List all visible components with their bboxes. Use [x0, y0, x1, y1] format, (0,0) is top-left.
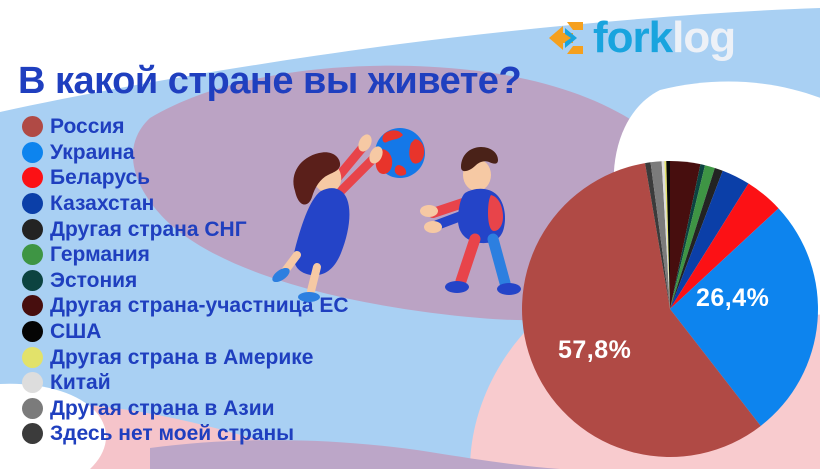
illustration-svg	[255, 105, 545, 315]
page-title: В какой стране вы живете?	[18, 62, 698, 102]
forklog-logo[interactable]: forklog	[543, 12, 811, 64]
legend-color-swatch	[22, 295, 43, 316]
legend-item-label: Другая страна в Америке	[50, 347, 313, 368]
legend-item: Китай	[22, 370, 452, 396]
legend-item: Другая страна в Азии	[22, 396, 452, 422]
legend-item: Здесь нет моей страны	[22, 421, 452, 447]
pie-chart-svg	[519, 158, 820, 460]
pie-slice-label-ukraine: 26,4%	[696, 284, 769, 313]
legend-color-swatch	[22, 398, 43, 419]
legend-item-label: Здесь нет моей страны	[50, 423, 294, 444]
legend-item-label: Россия	[50, 116, 125, 137]
legend-item-label: Другая страна СНГ	[50, 219, 247, 240]
legend-color-swatch	[22, 347, 43, 368]
legend-color-swatch	[22, 142, 43, 163]
legend-item-label: Эстония	[50, 270, 137, 291]
fork-arrow-icon	[543, 18, 587, 58]
legend-color-swatch	[22, 219, 43, 240]
pie-chart: 57,8% 26,4%	[519, 158, 820, 460]
logo-text-fork: fork	[593, 16, 672, 60]
legend-color-swatch	[22, 193, 43, 214]
forklog-wordmark: forklog	[593, 16, 735, 60]
legend-color-swatch	[22, 167, 43, 188]
legend-item-label: Китай	[50, 372, 111, 393]
legend-item: США	[22, 319, 452, 345]
pie-slice-label-russia: 57,8%	[558, 336, 631, 365]
legend-item-label: Другая страна в Азии	[50, 398, 275, 419]
legend-color-swatch	[22, 372, 43, 393]
woman-throwing-icon	[270, 132, 385, 302]
infographic-canvas: forklog В какой стране вы живете? Россия…	[0, 0, 820, 469]
legend-color-swatch	[22, 423, 43, 444]
legend-color-swatch	[22, 270, 43, 291]
legend-item-label: Беларусь	[50, 167, 150, 188]
legend-color-swatch	[22, 116, 43, 137]
legend-item-label: Германия	[50, 244, 150, 265]
legend-color-swatch	[22, 321, 43, 342]
legend-item: Другая страна в Америке	[22, 344, 452, 370]
illustration-two-people-globe	[255, 105, 545, 315]
logo-text-log: log	[672, 16, 735, 60]
legend-color-swatch	[22, 244, 43, 265]
man-catching-icon	[420, 147, 521, 295]
legend-item-label: Украина	[50, 142, 135, 163]
legend-item-label: США	[50, 321, 101, 342]
legend-item-label: Казахстан	[50, 193, 154, 214]
